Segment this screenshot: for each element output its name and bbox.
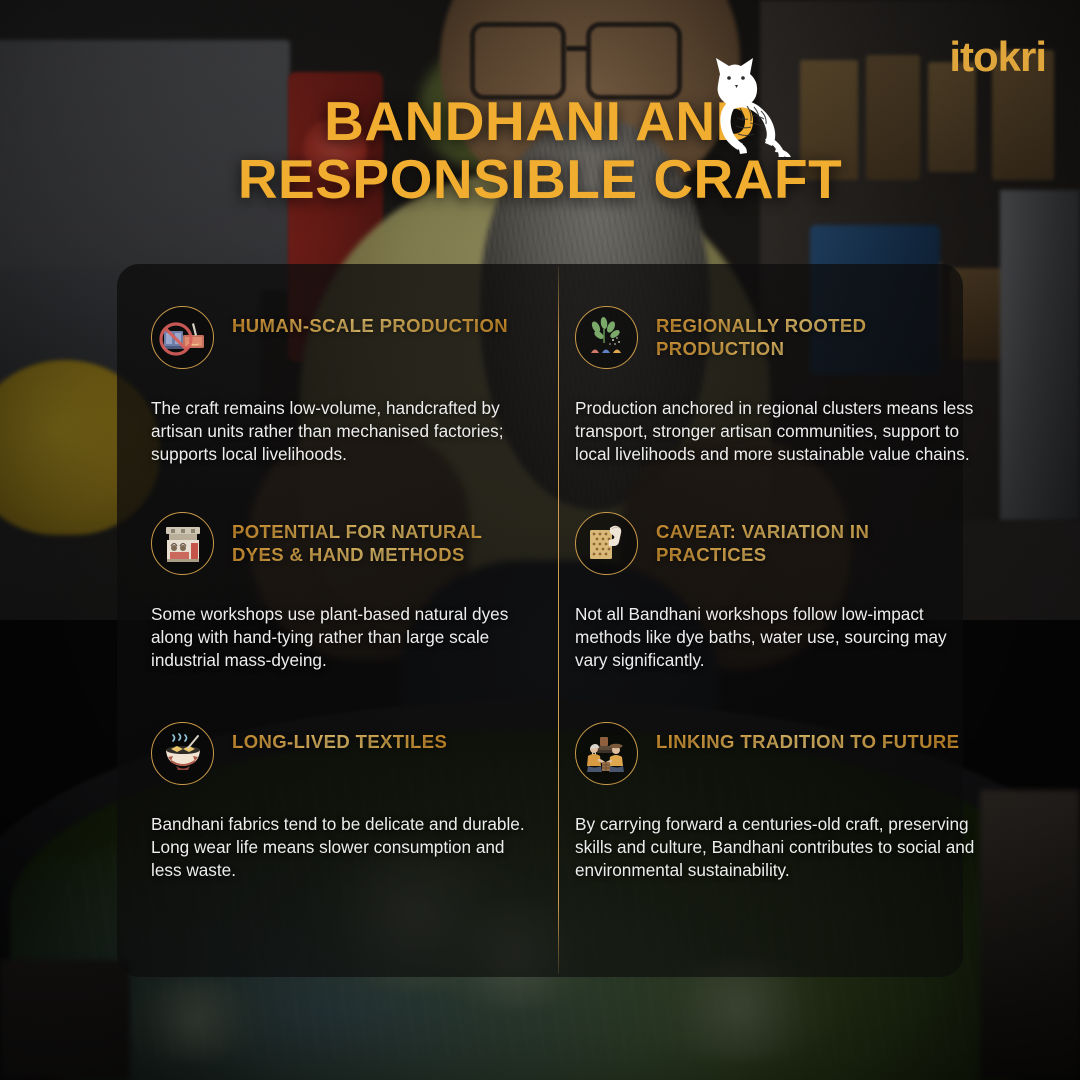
hand-holding-patterned-fabric-icon (575, 512, 638, 575)
benefit-body: Some workshops use plant-based natural d… (151, 603, 539, 672)
benefit-title: LINKING TRADITION TO FUTURE (656, 730, 959, 753)
artisan-workshop-building-icon (151, 512, 214, 575)
benefit-body: By carrying forward a centuries-old craf… (575, 813, 975, 882)
two-artisans-working-icon (575, 722, 638, 785)
benefit-item-regionally-rooted-production[interactable]: REGIONALLY ROOTED PRODUCTION Production … (575, 306, 987, 466)
benefits-grid: HUMAN-SCALE PRODUCTION The craft remains… (117, 264, 963, 977)
benefit-body: Production anchored in regional clusters… (575, 397, 975, 466)
benefit-body: Not all Bandhani workshops follow low-im… (575, 603, 975, 672)
benefit-title: CAVEAT: VARIATION IN PRACTICES (656, 520, 961, 567)
benefit-title: POTENTIAL FOR NATURAL DYES & HAND METHOD… (232, 520, 532, 567)
brand-logo[interactable]: itokri (949, 36, 1046, 78)
benefit-item-natural-dyes-hand-methods[interactable]: POTENTIAL FOR NATURAL DYES & HAND METHOD… (151, 512, 561, 672)
brand-logo-text: itokri (949, 33, 1046, 80)
benefit-title: REGIONALLY ROOTED PRODUCTION (656, 314, 961, 361)
benefit-body: The craft remains low-volume, handcrafte… (151, 397, 539, 466)
page-title: BANDHANI AND RESPONSIBLE CRAFT (0, 92, 1080, 209)
title-line-2: RESPONSIBLE CRAFT (0, 150, 1080, 208)
title-line-1: BANDHANI AND (0, 92, 1080, 150)
benefit-title: HUMAN-SCALE PRODUCTION (232, 314, 508, 337)
no-factory-machine-icon (151, 306, 214, 369)
infographic-poster: itokri BANDHANI AND RESPONSIBLE CRAFT (0, 0, 1080, 1080)
seedling-plant-pigments-icon (575, 306, 638, 369)
benefit-item-long-lived-textiles[interactable]: LONG-LIVED TEXTILES Bandhani fabrics ten… (151, 722, 561, 882)
benefit-body: Bandhani fabrics tend to be delicate and… (151, 813, 539, 882)
steaming-dye-pot-icon (151, 722, 214, 785)
benefit-item-human-scale-production[interactable]: HUMAN-SCALE PRODUCTION The craft remains… (151, 306, 561, 466)
benefit-item-linking-tradition-future[interactable]: LINKING TRADITION TO FUTURE By carrying … (575, 722, 987, 882)
benefit-item-caveat-variation-practices[interactable]: CAVEAT: VARIATION IN PRACTICES Not all B… (575, 512, 987, 672)
benefit-title: LONG-LIVED TEXTILES (232, 730, 447, 753)
